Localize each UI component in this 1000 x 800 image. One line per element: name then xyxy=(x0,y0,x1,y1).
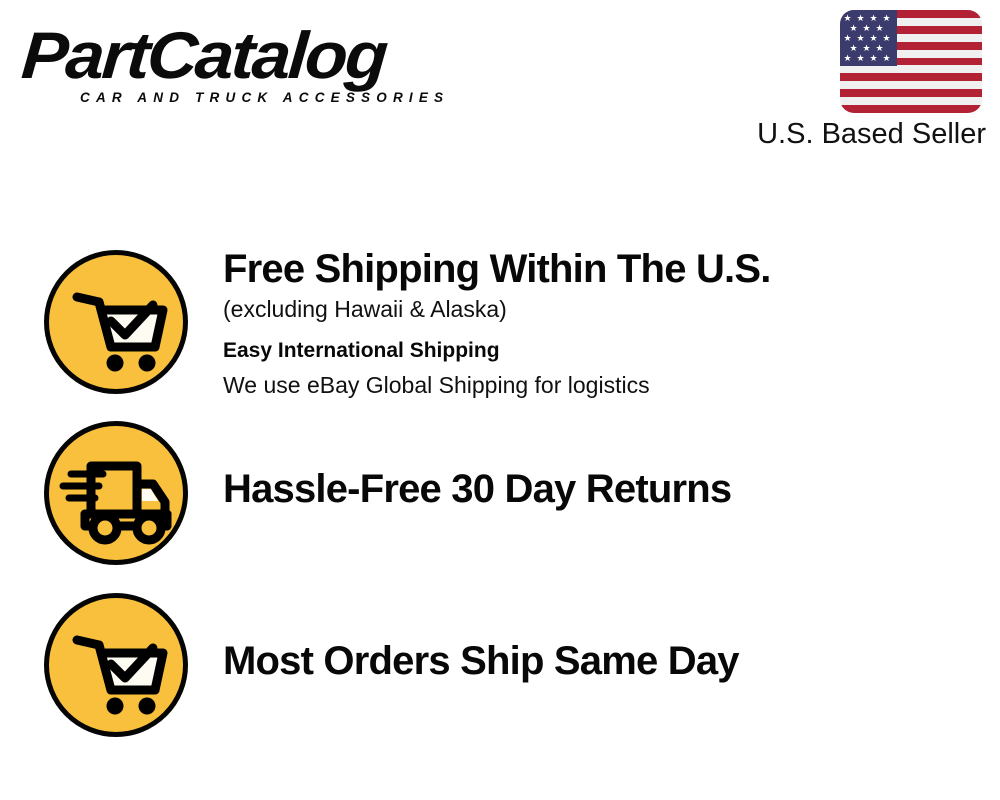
feature-subline: (excluding Hawaii & Alaska) xyxy=(223,292,983,326)
flag-stripe xyxy=(840,97,982,105)
flag-stripe xyxy=(840,89,982,97)
logo-tagline: CAR AND TRUCK ACCESSORIES xyxy=(80,90,492,105)
delivery-truck-icon xyxy=(44,421,188,565)
shopping-cart-check-icon xyxy=(44,250,188,394)
feature-sub-heading: Easy International Shipping xyxy=(223,334,983,368)
flag-star: ★ xyxy=(843,54,852,63)
page-header: PartCatalog CAR AND TRUCK ACCESSORIES ★ … xyxy=(0,0,1000,170)
us-based-seller-label: U.S. Based Seller xyxy=(757,117,986,151)
flag-star: ★ xyxy=(875,44,884,53)
flag-star: ★ xyxy=(875,24,884,33)
flag-star: ★ xyxy=(882,34,891,43)
brand-logo[interactable]: PartCatalog CAR AND TRUCK ACCESSORIES xyxy=(22,22,492,105)
feature-copy: Hassle-Free 30 Day Returns xyxy=(223,466,983,512)
feature-copy: Most Orders Ship Same Day xyxy=(223,638,983,684)
flag-star: ★ xyxy=(882,14,891,23)
flag-star: ★ xyxy=(856,34,865,43)
feature-row: Hassle-Free 30 Day Returns xyxy=(0,421,1000,591)
flag-stripe xyxy=(840,73,982,81)
flag-star: ★ xyxy=(862,24,871,33)
flag-star: ★ xyxy=(843,14,852,23)
feature-row: Free Shipping Within The U.S. (excluding… xyxy=(0,250,1000,420)
flag-star: ★ xyxy=(869,54,878,63)
flag-star: ★ xyxy=(856,14,865,23)
flag-star: ★ xyxy=(862,44,871,53)
feature-headline: Free Shipping Within The U.S. xyxy=(223,246,983,292)
feature-sub-detail: We use eBay Global Shipping for logistic… xyxy=(223,368,983,402)
us-flag-icon: ★ ★ ★ ★ ★ ★ ★ ★ ★ ★ ★ ★ ★ ★ ★ ★ ★ ★ xyxy=(840,10,982,113)
flag-star: ★ xyxy=(849,44,858,53)
flag-star: ★ xyxy=(843,34,852,43)
flag-canton: ★ ★ ★ ★ ★ ★ ★ ★ ★ ★ ★ ★ ★ ★ ★ ★ ★ ★ xyxy=(840,10,897,66)
flag-star: ★ xyxy=(849,24,858,33)
flag-star: ★ xyxy=(869,14,878,23)
feature-headline: Most Orders Ship Same Day xyxy=(223,638,983,684)
shopping-cart-check-icon xyxy=(44,593,188,737)
flag-stripe xyxy=(840,81,982,89)
feature-copy: Free Shipping Within The U.S. (excluding… xyxy=(223,246,983,402)
flag-star: ★ xyxy=(882,54,891,63)
logo-wordmark: PartCatalog xyxy=(20,22,523,88)
feature-row: Most Orders Ship Same Day xyxy=(0,593,1000,763)
flag-star: ★ xyxy=(856,54,865,63)
us-flag-badge: ★ ★ ★ ★ ★ ★ ★ ★ ★ ★ ★ ★ ★ ★ ★ ★ ★ ★ xyxy=(840,10,982,113)
flag-stripe xyxy=(840,65,982,73)
feature-headline: Hassle-Free 30 Day Returns xyxy=(223,466,983,512)
flag-stripe xyxy=(840,105,982,113)
flag-star: ★ xyxy=(869,34,878,43)
